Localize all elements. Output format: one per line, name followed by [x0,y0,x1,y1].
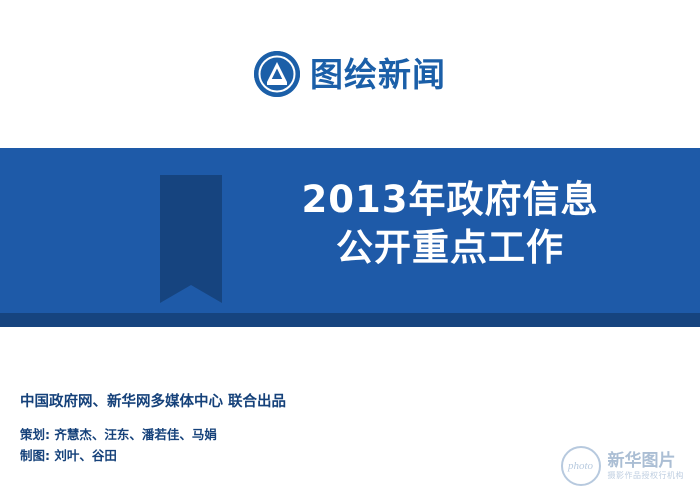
watermark-texts: 新华图片 摄影作品授权行机构 [608,452,685,481]
poster-page: 图绘新闻 详 解 2013年政府信息 公开重点工作 中国政府网、新华网多媒体中心… [0,0,700,500]
logo-band: 图绘新闻 [0,0,700,148]
watermark-subtitle: 摄影作品授权行机构 [608,471,685,480]
credits-block: 中国政府网、新华网多媒体中心 联合出品 策划: 齐慧杰、汪东、潘若佳、马娟 制图… [20,392,540,466]
ribbon-badge-line2: 解 [21,55,42,83]
watermark-mark-text: photo [568,460,593,472]
credit-planner: 策划: 齐慧杰、汪东、潘若佳、马娟 [20,424,540,445]
banner-bottom-rule [0,313,700,327]
page-title-line1: 2013年政府信息 [302,178,599,221]
logo-text: 图绘新闻 [310,58,446,91]
logo-inner: 图绘新闻 [254,51,446,97]
brand-logo: 图绘新闻 [0,0,700,148]
watermark: photo 新华图片 摄影作品授权行机构 [561,446,685,486]
ribbon-badge [160,175,222,285]
credit-producer: 中国政府网、新华网多媒体中心 联合出品 [20,392,540,412]
page-title-line2: 公开重点工作 [240,224,660,272]
watermark-camera-icon: photo [561,446,601,486]
credit-designer: 制图: 刘叶、谷田 [20,445,540,466]
watermark-title: 新华图片 [608,452,685,472]
ribbon-badge-line1: 详 [21,27,42,55]
mountain-in-circle-logo-icon [254,51,300,97]
ribbon-badge-text: 详 解 [0,0,62,110]
page-title: 2013年政府信息 公开重点工作 [240,176,660,272]
